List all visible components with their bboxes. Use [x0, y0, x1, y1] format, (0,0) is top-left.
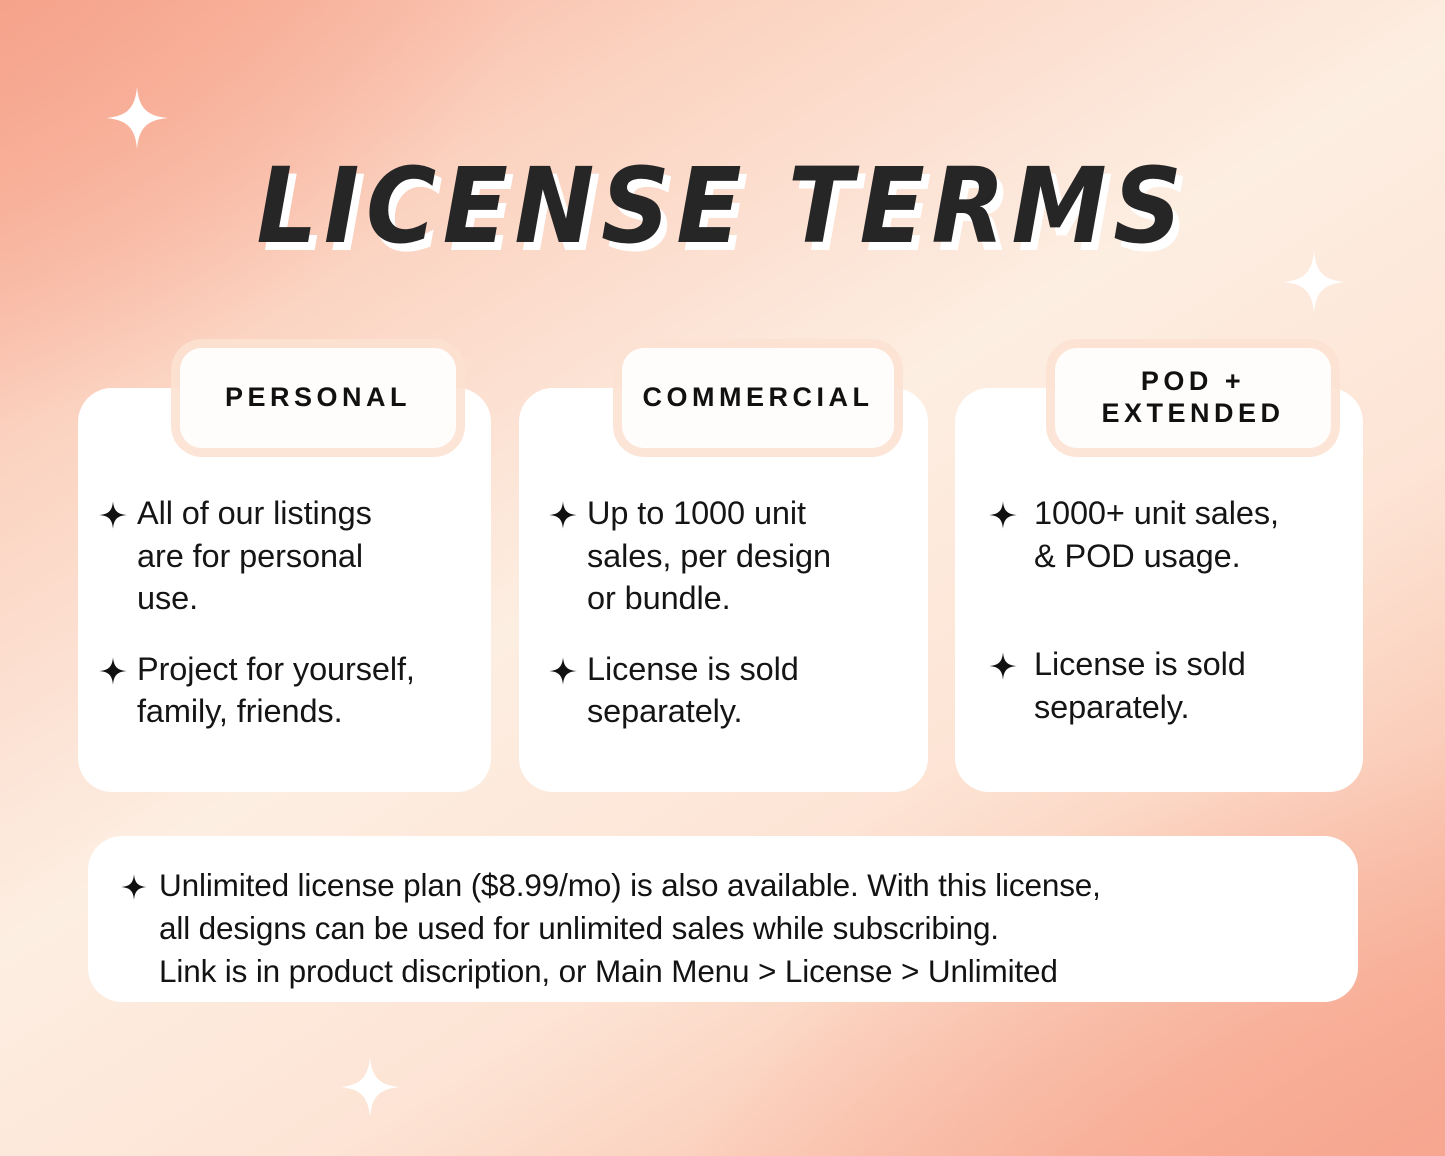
sparkle-bottom-left-icon — [340, 1050, 400, 1124]
unlimited-plan-banner-content: Unlimited license plan ($8.99/mo) is als… — [120, 864, 1334, 993]
list-item: All of our listings are for personal use… — [98, 492, 488, 620]
card-pod-extended-bullets: 1000+ unit sales, & POD usage. License i… — [988, 492, 1358, 728]
sparkle-bullet-icon — [988, 646, 1018, 686]
page-title-container: LICENSE TERMS — [0, 152, 1445, 261]
card-personal-tab-label: PERSONAL — [225, 382, 411, 414]
card-commercial-tab-label: COMMERCIAL — [643, 382, 874, 414]
card-commercial-tab[interactable]: COMMERCIAL — [622, 348, 894, 448]
sparkle-bullet-icon — [98, 651, 128, 691]
sparkle-top-left-icon — [106, 83, 168, 153]
card-pod-extended-tab-label: POD + EXTENDED — [1101, 366, 1284, 430]
sparkle-bullet-icon — [98, 495, 128, 535]
card-commercial-bullets: Up to 1000 unit sales, per design or bun… — [548, 492, 918, 733]
card-personal-tab[interactable]: PERSONAL — [180, 348, 456, 448]
list-item: License is sold separately. — [988, 643, 1358, 728]
list-item-text: Project for yourself, family, friends. — [137, 648, 415, 733]
list-item: Project for yourself, family, friends. — [98, 648, 488, 733]
sparkle-bullet-icon — [548, 651, 578, 691]
unlimited-plan-banner-text: Unlimited license plan ($8.99/mo) is als… — [159, 864, 1101, 993]
license-terms-graphic: LICENSE TERMS PERSONAL All of our listin… — [0, 0, 1445, 1156]
list-item-text: License is sold separately. — [1034, 643, 1246, 728]
list-item: 1000+ unit sales, & POD usage. — [988, 492, 1358, 577]
list-item-text: 1000+ unit sales, & POD usage. — [1034, 492, 1279, 577]
sparkle-bullet-icon — [548, 495, 578, 535]
list-item: Up to 1000 unit sales, per design or bun… — [548, 492, 918, 620]
list-item-text: License is sold separately. — [587, 648, 799, 733]
page-title: LICENSE TERMS — [257, 152, 1189, 261]
unlimited-plan-banner: Unlimited license plan ($8.99/mo) is als… — [88, 836, 1358, 1002]
list-item-text: All of our listings are for personal use… — [137, 492, 372, 620]
sparkle-bullet-icon — [988, 495, 1018, 535]
card-personal-bullets: All of our listings are for personal use… — [98, 492, 488, 733]
list-item: License is sold separately. — [548, 648, 918, 733]
card-pod-extended-tab[interactable]: POD + EXTENDED — [1055, 348, 1331, 448]
list-item-text: Up to 1000 unit sales, per design or bun… — [587, 492, 831, 620]
sparkle-bullet-icon — [120, 868, 148, 906]
